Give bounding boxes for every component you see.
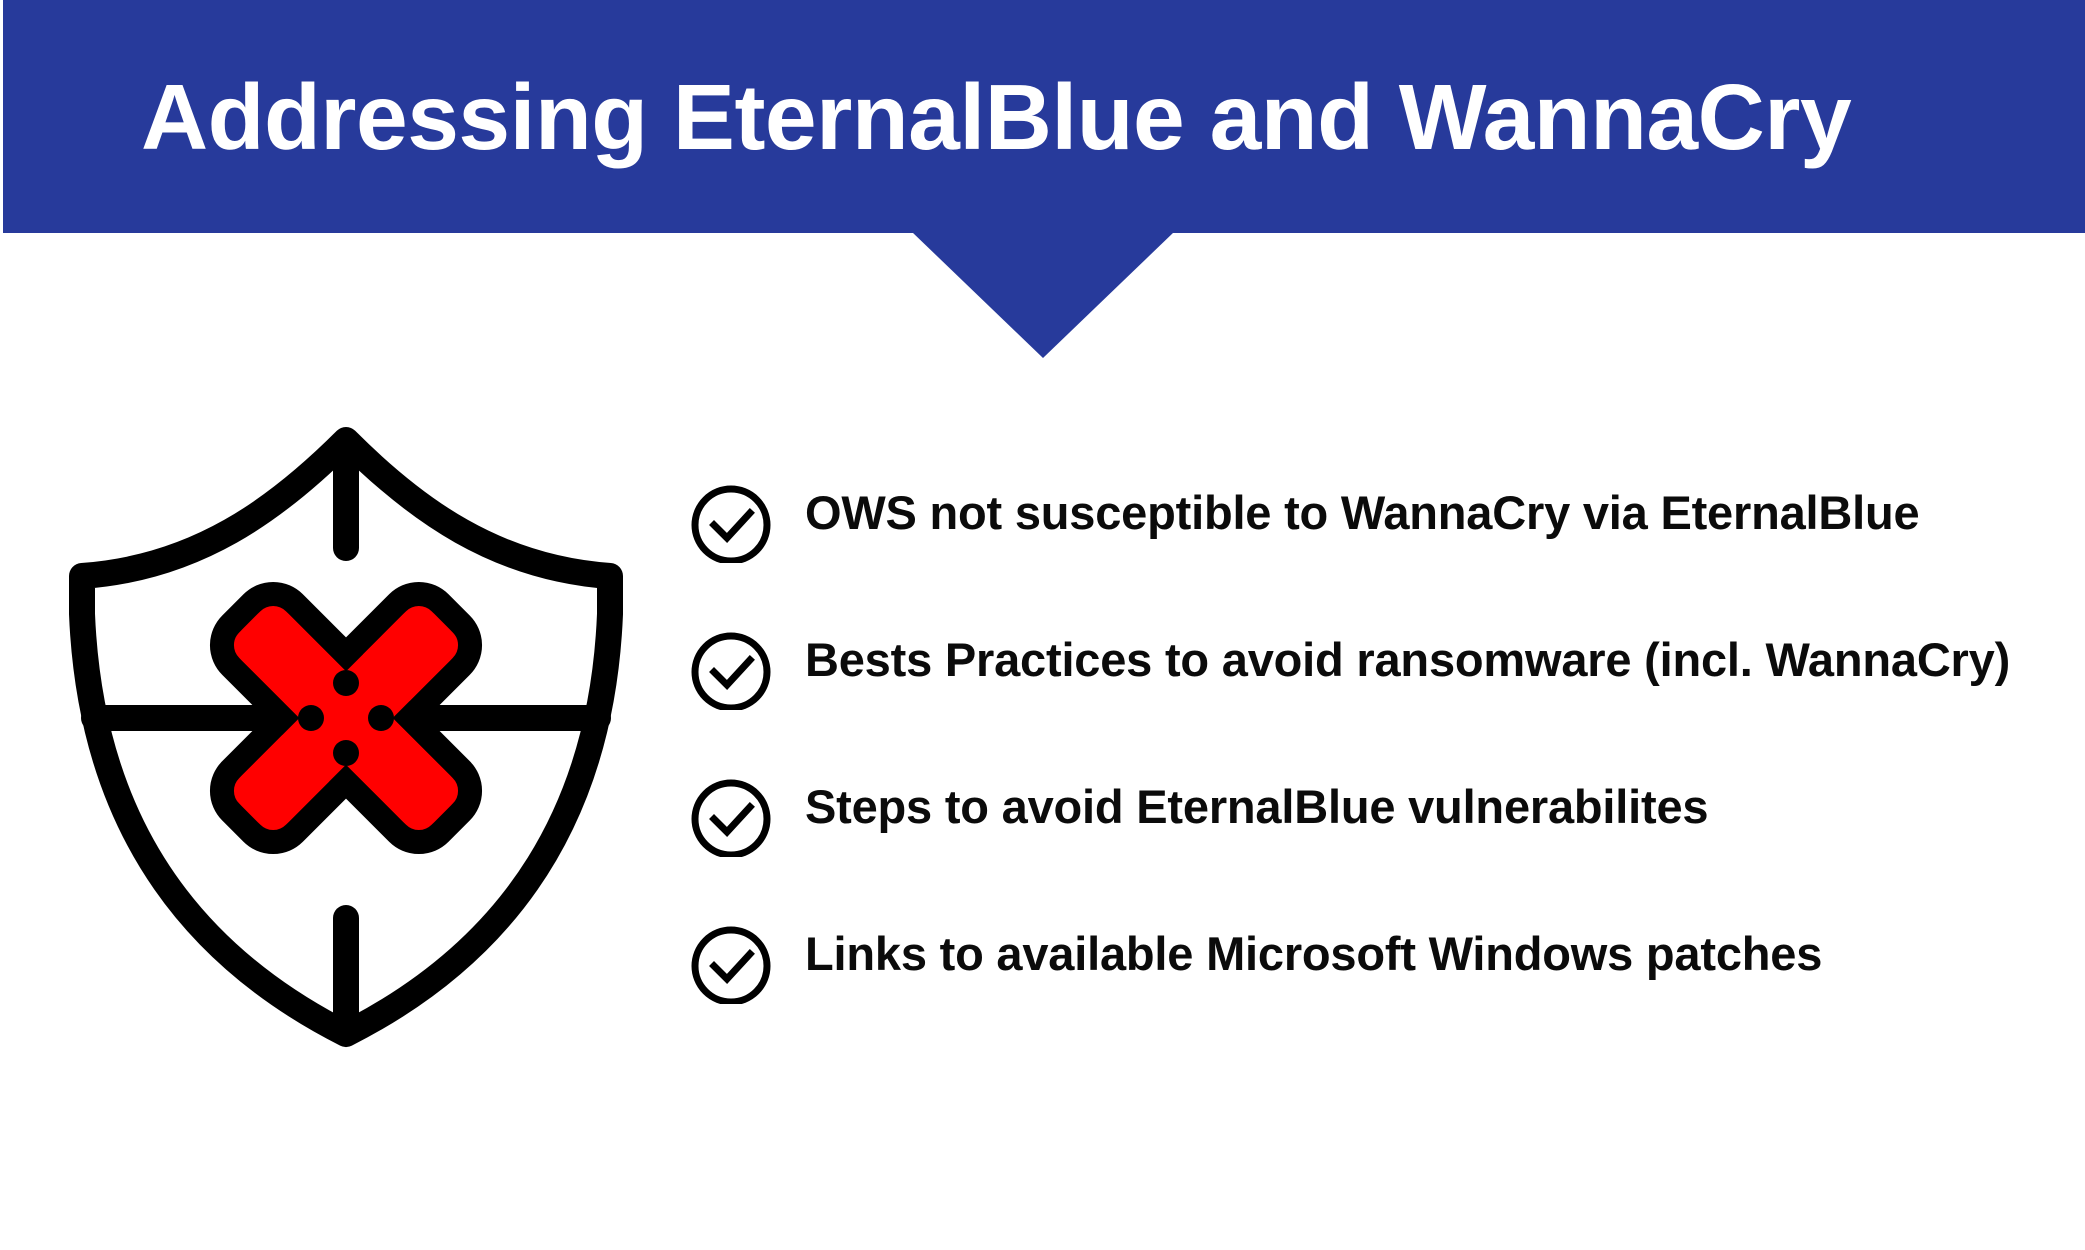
check-circle-icon xyxy=(690,775,772,857)
check-circle-icon xyxy=(690,481,772,563)
check-circle-icon xyxy=(690,922,772,1004)
header-banner: Addressing EternalBlue and WannaCry xyxy=(3,0,2085,233)
page-title: Addressing EternalBlue and WannaCry xyxy=(141,28,1971,208)
header-banner-notch xyxy=(912,232,1174,358)
shield-with-bandage-icon xyxy=(46,418,646,1058)
list-item-label: OWS not susceptible to WannaCry via Eter… xyxy=(805,488,2050,537)
list-item-label: Bests Practices to avoid ransomware (inc… xyxy=(805,635,2050,684)
list-item: Steps to avoid EternalBlue vulnerabilite… xyxy=(690,774,2050,921)
list-item: Bests Practices to avoid ransomware (inc… xyxy=(690,627,2050,774)
list-item-label: Links to available Microsoft Windows pat… xyxy=(805,929,2050,978)
slide-canvas: Addressing EternalBlue and WannaCry xyxy=(0,0,2085,1250)
bullet-list: OWS not susceptible to WannaCry via Eter… xyxy=(690,480,2050,1068)
list-item: Links to available Microsoft Windows pat… xyxy=(690,921,2050,1068)
check-circle-icon xyxy=(690,628,772,710)
list-item-label: Steps to avoid EternalBlue vulnerabilite… xyxy=(805,782,2050,831)
list-item: OWS not susceptible to WannaCry via Eter… xyxy=(690,480,2050,627)
